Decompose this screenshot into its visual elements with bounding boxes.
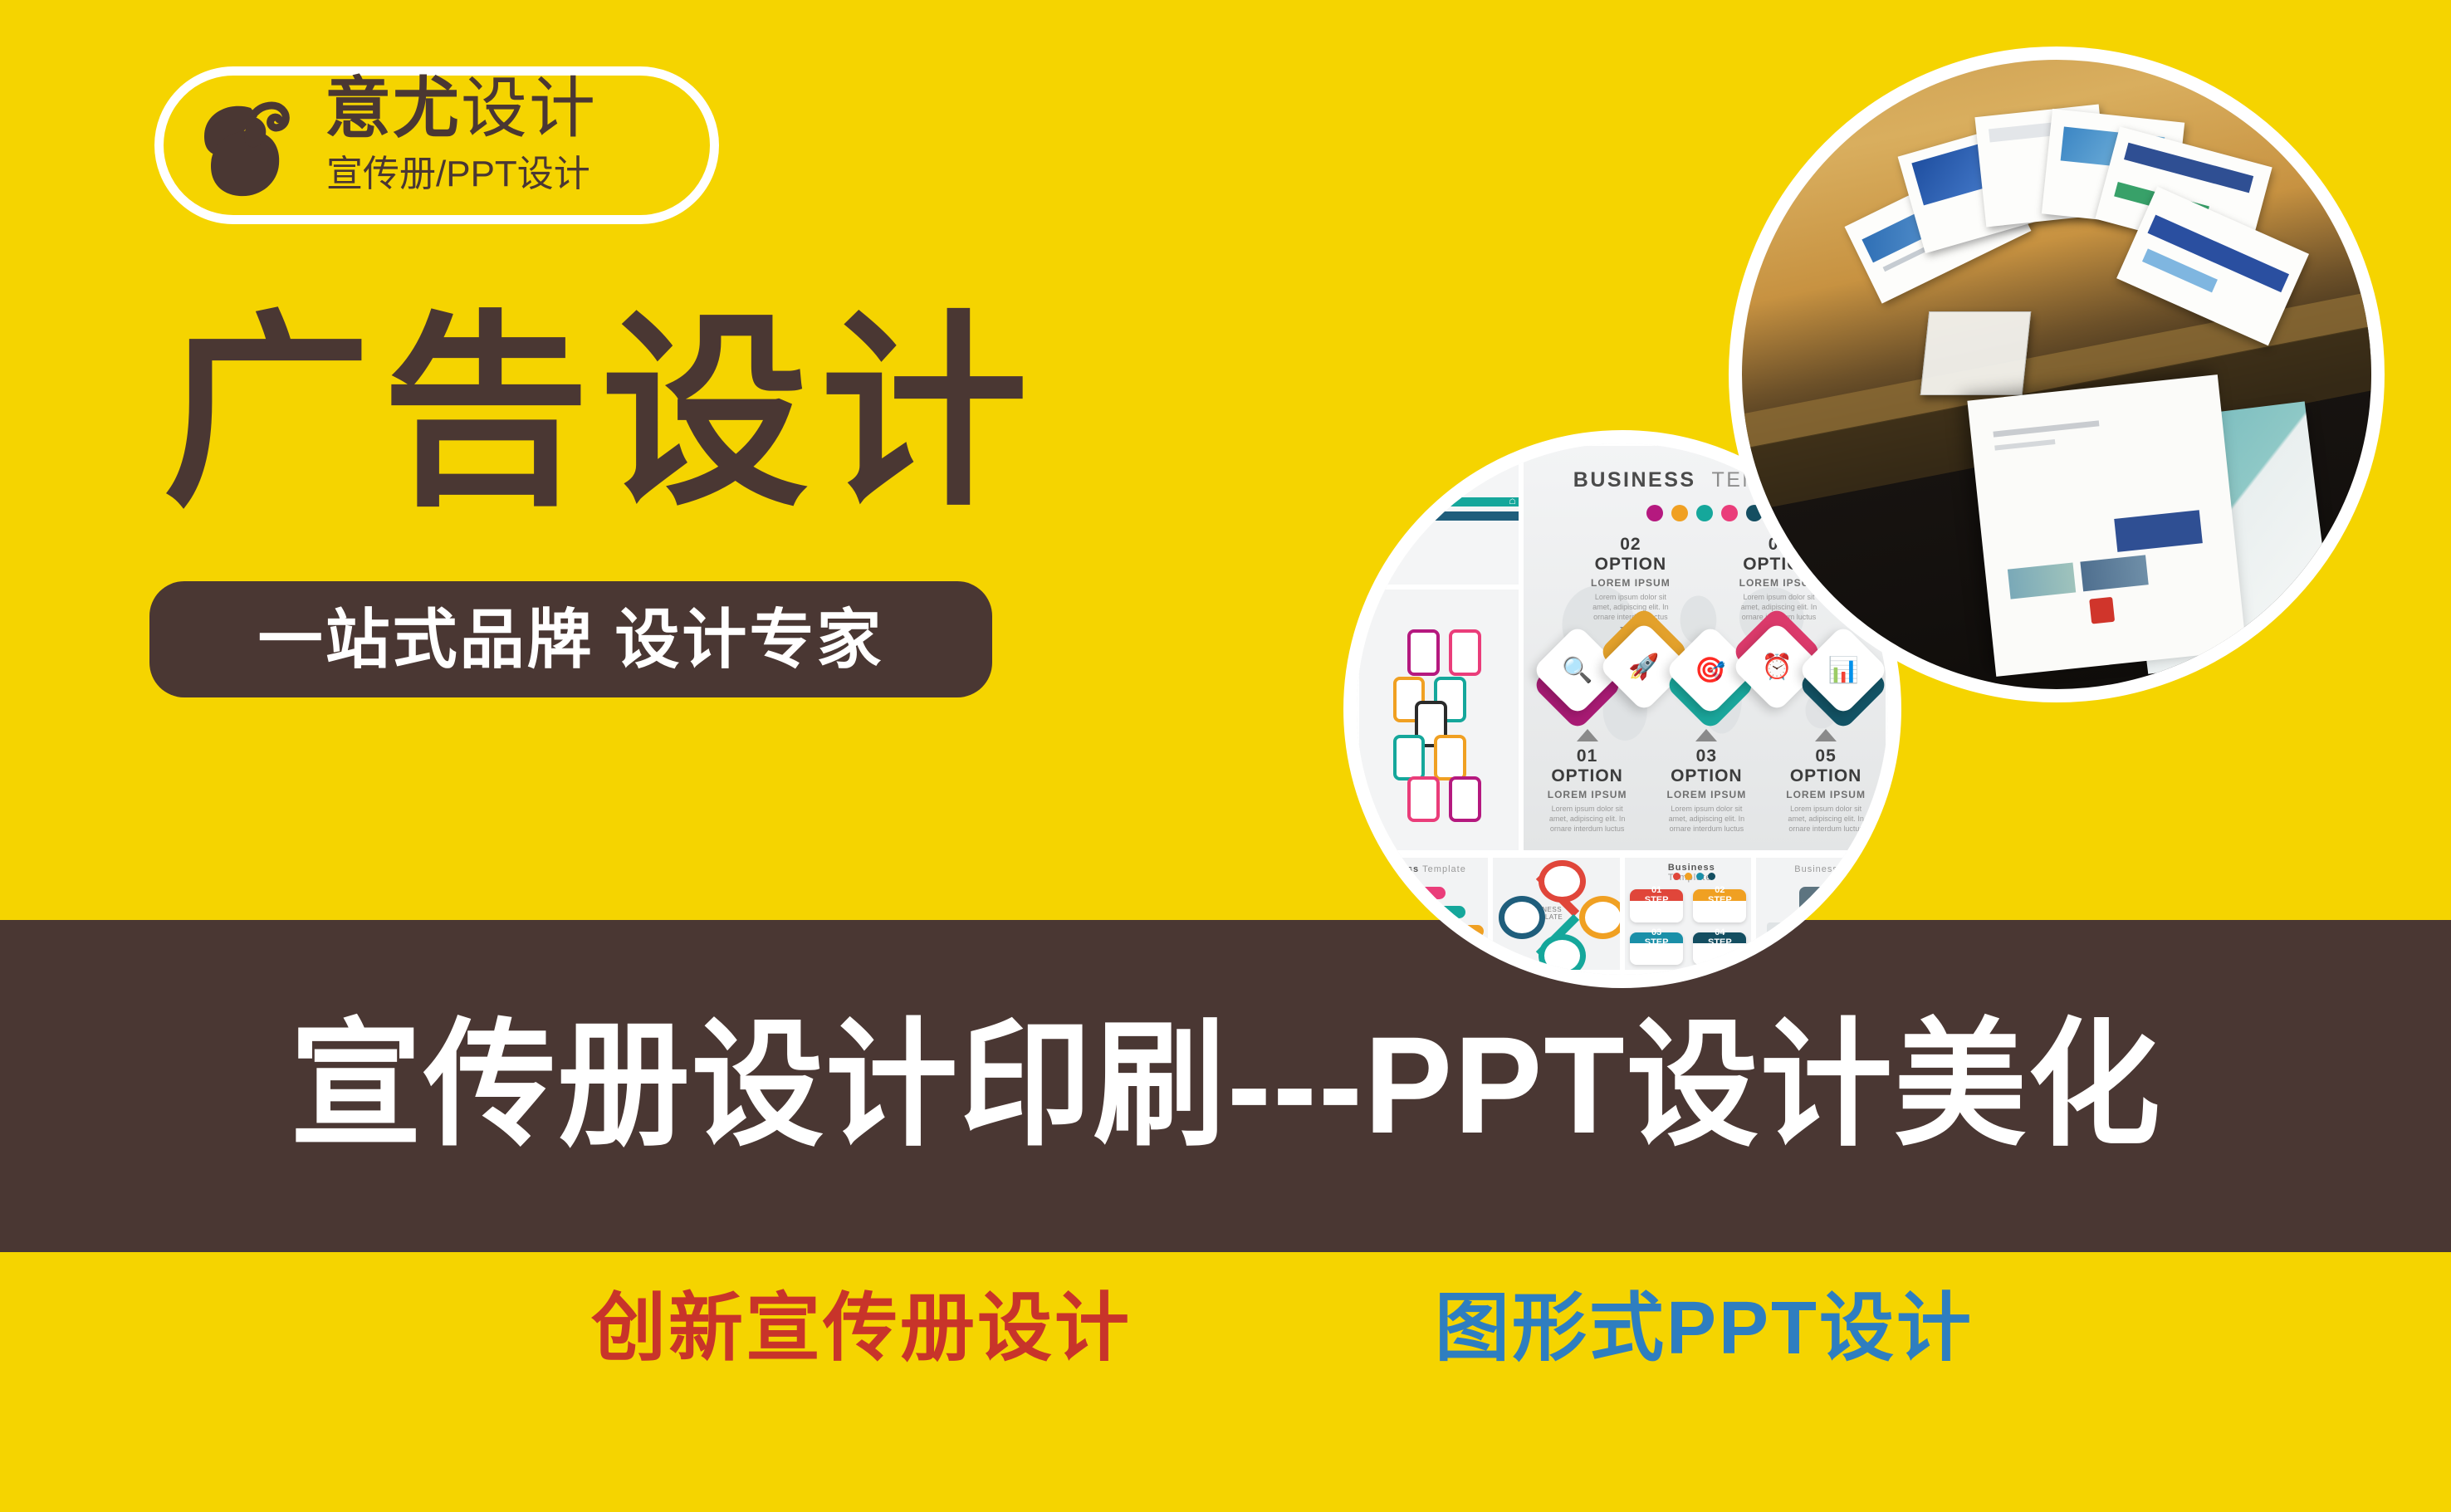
option-05-id: 05 OPTION xyxy=(1781,746,1871,786)
circ-node-01 xyxy=(1539,860,1586,903)
banner-strip-text: 宣传册设计印刷---PPT设计美化 xyxy=(290,1011,2162,1161)
thumb-top-left: ☖ ◎ xyxy=(1357,443,1521,587)
thumb-steps-title-bold: Business xyxy=(1668,863,1715,873)
logo-subtitle: 宣传册/PPT设计 xyxy=(326,154,590,195)
leaf-bird-mark-icon xyxy=(178,80,311,213)
option-02-sub: LOREM IPSUM xyxy=(1585,577,1676,589)
step-card-02-label: STEP xyxy=(1708,895,1732,905)
option-05-body: Lorem ipsum dolor sit amet, adipiscing e… xyxy=(1781,804,1871,834)
step-card-02-id: 02 xyxy=(1715,885,1725,895)
page-title: 广告设计 xyxy=(163,306,1040,521)
option-03-id: 03 OPTION xyxy=(1661,746,1752,786)
red-stamp-logo xyxy=(2090,597,2115,624)
thumb-last-title: Business xyxy=(1794,864,1838,874)
thumb-last: Business 06 xyxy=(1754,855,1886,972)
tagline-pill: 一站式品牌 设计专家 xyxy=(149,581,992,697)
thumb-cross-diagram xyxy=(1357,587,1521,853)
option-02-body: Lorem ipsum dolor sit amet, adipiscing e… xyxy=(1585,592,1676,622)
option-03-body: Lorem ipsum dolor sit amet, adipiscing e… xyxy=(1661,804,1752,834)
option-05-sub: LOREM IPSUM xyxy=(1781,789,1871,800)
target-icon: 🎯 xyxy=(1678,638,1743,702)
thumb-last-badge: 06 xyxy=(1799,887,1855,916)
brochure-fan-group xyxy=(1855,110,2270,362)
bottom-tag-row: 创新宣传册设计 图形式PPT设计 xyxy=(0,1283,2451,1416)
step-card-03: 03STEP xyxy=(1630,932,1683,965)
thumb-bottom-row: Business Template 01 02 03 04 xyxy=(1357,853,1888,975)
step-card-01: 01STEP xyxy=(1630,889,1683,922)
pyramid-bar-03: 03 xyxy=(1390,927,1397,935)
step-card-04-label: STEP xyxy=(1708,937,1732,947)
pyramid-bar-01: 01 xyxy=(1374,889,1382,897)
pyramid-bar-04: 04 xyxy=(1397,947,1404,954)
step-card-01-id: 01 xyxy=(1651,885,1661,895)
step-card-03-id: 03 xyxy=(1651,927,1661,937)
brochure-photo xyxy=(1742,60,2371,689)
thumb-step-cards: Business Template 01STEP 02STEP xyxy=(1622,855,1754,972)
circ-node-04 xyxy=(1499,896,1546,939)
brand-logo[interactable]: 意尤设计 宣传册/PPT设计 xyxy=(154,66,719,224)
thumb-steps-dots xyxy=(1673,873,1715,880)
option-label-05: 05 OPTION LOREM IPSUM Lorem ipsum dolor … xyxy=(1781,729,1871,834)
rocket-icon: 🚀 xyxy=(1612,634,1676,699)
pyramid-bar-02: 02 xyxy=(1383,908,1391,916)
option-label-01: 01 OPTION LOREM IPSUM Lorem ipsum dolor … xyxy=(1542,729,1632,834)
option-01-id: 01 OPTION xyxy=(1542,746,1632,786)
tag-brochure-design[interactable]: 创新宣传册设计 xyxy=(591,1283,1132,1374)
thumb-pyramid-title-light: Template xyxy=(1422,864,1466,874)
acrylic-card-holder xyxy=(1920,311,2032,395)
brochure-photo-circle-image xyxy=(1729,46,2385,702)
slide-title-bold: BUSINESS xyxy=(1573,468,1696,492)
banner-strip: 宣传册设计印刷---PPT设计美化 xyxy=(0,920,2451,1252)
poster-canvas: 意尤设计 宣传册/PPT设计 广告设计 一站式品牌 设计专家 宣传册设计印刷--… xyxy=(0,0,2451,1512)
option-02-id: 02 OPTION xyxy=(1585,535,1676,575)
logo-text-block: 意尤设计 宣传册/PPT设计 xyxy=(325,71,702,220)
magnifier-icon: 🔍 xyxy=(1545,638,1610,702)
tag-ppt-design[interactable]: 图形式PPT设计 xyxy=(1435,1283,1974,1374)
option-label-03: 03 OPTION LOREM IPSUM Lorem ipsum dolor … xyxy=(1661,729,1752,834)
pyramid-bars: 01 02 03 04 xyxy=(1369,887,1480,963)
thumb-pyramid: Business Template 01 02 03 04 xyxy=(1359,855,1490,972)
step-card-02: 02STEP xyxy=(1693,889,1746,922)
tagline-text: 一站式品牌 设计专家 xyxy=(258,604,884,674)
thumb-pyramid-dots xyxy=(1372,873,1414,881)
step-card-01-label: STEP xyxy=(1645,895,1669,905)
option-01-body: Lorem ipsum dolor sit amet, adipiscing e… xyxy=(1542,804,1632,834)
circ-node-03 xyxy=(1539,934,1586,972)
step-card-04-id: 04 xyxy=(1715,927,1725,937)
step-card-04: 04STEP xyxy=(1693,932,1746,965)
logo-title-bold: 意尤 xyxy=(325,71,461,145)
logo-title-thin: 设计 xyxy=(461,71,597,145)
brochure-front-cover xyxy=(1967,374,2246,676)
step-card-03-label: STEP xyxy=(1645,937,1669,947)
option-01-sub: LOREM IPSUM xyxy=(1542,789,1632,800)
circ-node-02 xyxy=(1579,896,1622,939)
option-03-sub: LOREM IPSUM xyxy=(1661,789,1752,800)
thumb-circle-diagram: BUSINESS TEMPLATE xyxy=(1490,855,1622,972)
logo-title: 意尤设计 xyxy=(325,74,597,144)
